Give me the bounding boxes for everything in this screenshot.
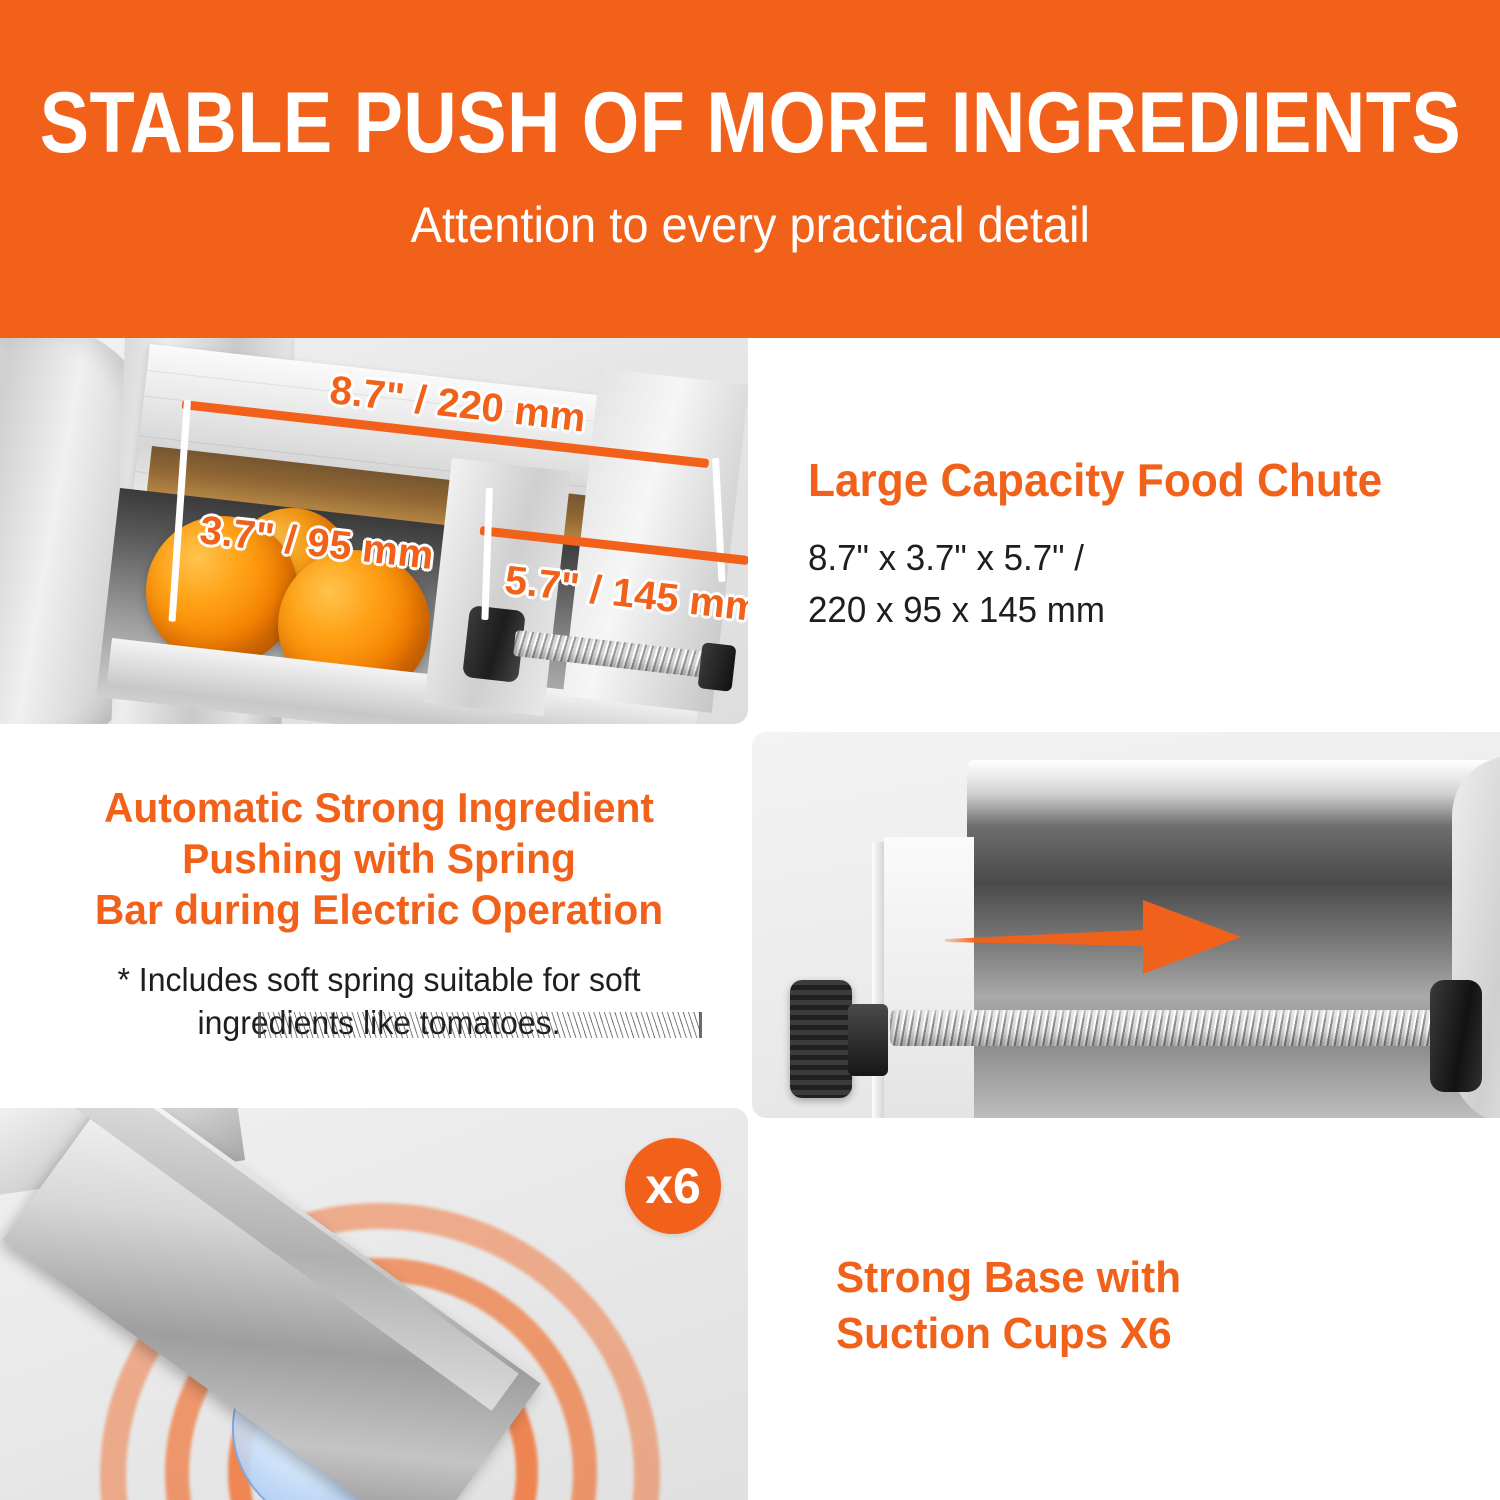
screw-rod-end-hub: [1430, 980, 1482, 1092]
quantity-badge-x6: x6: [625, 1138, 721, 1234]
spring-end-left: [258, 1012, 261, 1038]
soft-spring-illustration: [260, 1012, 700, 1038]
strong-base-heading-line-2: Suction Cups X6: [836, 1306, 1431, 1362]
food-chute-text-block: Large Capacity Food Chute 8.7" x 3.7" x …: [808, 455, 1468, 636]
adjustment-knob: [790, 980, 852, 1098]
push-direction-arrow-icon: [945, 882, 1395, 992]
machine-top-strip: [967, 760, 1497, 794]
strong-base-text-block: Strong Base with Suction Cups X6: [836, 1250, 1456, 1363]
header-banner: STABLE PUSH OF MORE INGREDIENTS Attentio…: [0, 0, 1500, 338]
machine-guide-rail: [872, 842, 884, 1118]
spring-bar-screw-rod: [890, 1010, 1450, 1046]
food-chute-photo-panel: WARNING Keep hands out of the food chute…: [0, 338, 748, 724]
suction-cup-photo-panel: x6: [0, 1108, 748, 1500]
food-chute-spec-line-1: 8.7" x 3.7" x 5.7" /: [808, 532, 1448, 584]
spring-heading-line-1: Automatic Strong Ingredient: [44, 782, 713, 833]
spring-heading-line-2: Pushing with Spring: [44, 833, 713, 884]
strong-base-heading-line-1: Strong Base with: [836, 1250, 1431, 1306]
spring-end-right: [699, 1012, 702, 1038]
banner-title: STABLE PUSH OF MORE INGREDIENTS: [39, 80, 1460, 168]
spring-bar-photo-panel: [752, 732, 1500, 1118]
food-chute-spec-line-2: 220 x 95 x 145 mm: [808, 584, 1448, 636]
banner-subtitle: Attention to every practical detail: [410, 196, 1089, 254]
knob-collar: [848, 1004, 888, 1076]
screw-end-hub: [698, 642, 737, 692]
spring-bar-text-block: Automatic Strong Ingredient Pushing with…: [34, 782, 724, 1045]
spring-heading-line-3: Bar during Electric Operation: [44, 884, 713, 935]
food-chute-heading: Large Capacity Food Chute: [808, 455, 1442, 506]
